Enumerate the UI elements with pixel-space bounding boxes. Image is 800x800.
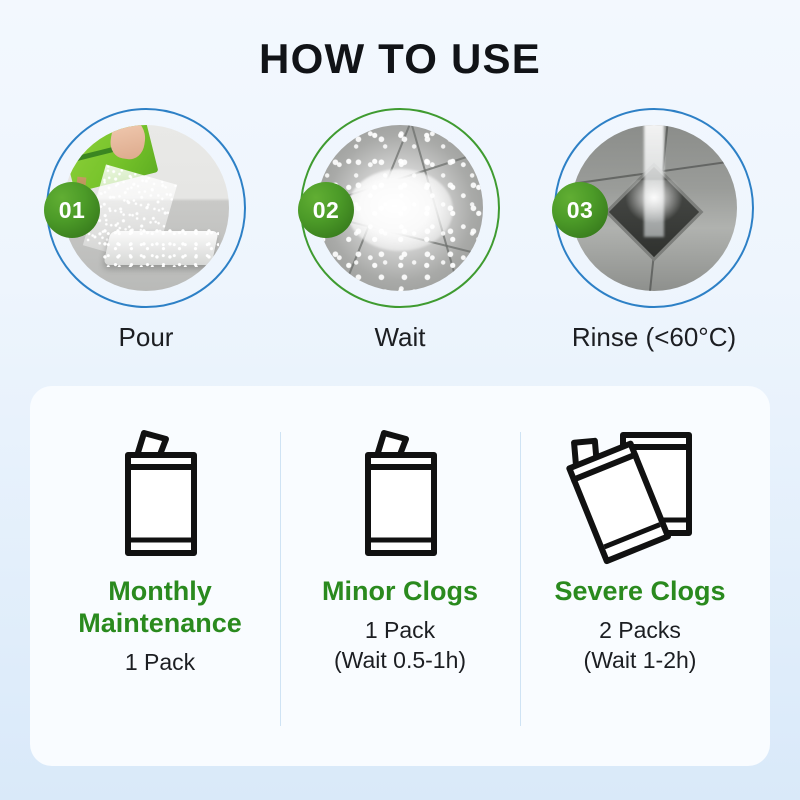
step-badge-01: 01 xyxy=(44,182,100,238)
single-pouch-icon xyxy=(100,420,220,570)
dosage-sub-monthly-maintenance: 1 Pack xyxy=(125,648,195,678)
dosage-columns: Monthly Maintenance 1 Pack Minor Clogs 1… xyxy=(30,386,770,766)
dosage-sub-severe-clogs: 2 Packs (Wait 1-2h) xyxy=(584,616,697,676)
dosage-title-monthly-maintenance: Monthly Maintenance xyxy=(40,576,280,640)
step-label-03: Rinse (<60°C) xyxy=(572,322,736,353)
dosage-column-severe-clogs: Severe Clogs 2 Packs (Wait 1-2h) xyxy=(520,420,760,742)
double-pouch-icon xyxy=(565,420,715,570)
dosage-sub-minor-clogs: 1 Pack (Wait 0.5-1h) xyxy=(334,616,466,676)
step-badge-02: 02 xyxy=(298,182,354,238)
dosage-column-monthly-maintenance: Monthly Maintenance 1 Pack xyxy=(40,420,280,742)
double-pouch-svg xyxy=(565,425,715,565)
single-pouch-svg xyxy=(340,425,460,565)
dosage-title-minor-clogs: Minor Clogs xyxy=(322,576,478,608)
step-label-01: Pour xyxy=(119,322,174,353)
dosage-title-severe-clogs: Severe Clogs xyxy=(554,576,725,608)
page-title: HOW TO USE xyxy=(0,0,800,82)
granule-spray-icon xyxy=(103,227,219,267)
step-item-03: 03 Rinse (<60°C) xyxy=(538,108,770,353)
dosage-card: Monthly Maintenance 1 Pack Minor Clogs 1… xyxy=(30,386,770,766)
single-pouch-svg xyxy=(100,425,220,565)
step-01-ring-wrap: 01 xyxy=(46,108,246,308)
steps-row: 01 Pour 02 Wait xyxy=(0,108,800,353)
dosage-column-minor-clogs: Minor Clogs 1 Pack (Wait 0.5-1h) xyxy=(280,420,520,742)
single-pouch-icon xyxy=(340,420,460,570)
step-03-ring-wrap: 03 xyxy=(554,108,754,308)
step-badge-03: 03 xyxy=(552,182,608,238)
step-item-02: 02 Wait xyxy=(284,108,516,353)
step-02-ring-wrap: 02 xyxy=(300,108,500,308)
water-splash-icon xyxy=(625,180,683,224)
step-label-02: Wait xyxy=(374,322,425,353)
step-item-01: 01 Pour xyxy=(30,108,262,353)
